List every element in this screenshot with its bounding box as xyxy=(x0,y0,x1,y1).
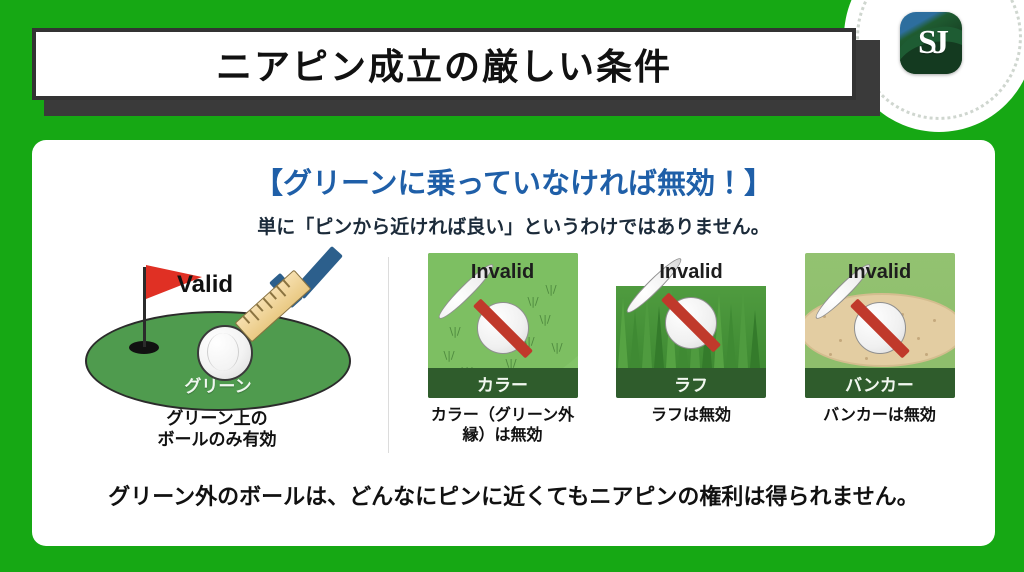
logo-monogram: SJ xyxy=(900,12,962,74)
title-banner-plate: ニアピン成立の厳しい条件 xyxy=(32,28,856,100)
panels-row: グリーン Valid グリーン上の xyxy=(52,253,975,463)
red-x-icon xyxy=(653,285,729,361)
title-banner: ニアピン成立の厳しい条件 xyxy=(32,28,868,108)
app-logo: SJ xyxy=(900,12,962,74)
bunker-caption: バンカーは無効 xyxy=(802,405,957,425)
valid-panel: グリーン Valid グリーン上の xyxy=(52,253,382,452)
rough-thumbnail: Invalid xyxy=(616,253,766,398)
invalid-panel-rough: Invalid xyxy=(616,253,766,425)
ball-with-red-x-icon xyxy=(854,302,906,354)
invalid-panel-collar: \|/ \|/ \|/ \|/ \|/ \|/ \|/ \|/ \|/ Inva… xyxy=(425,253,580,445)
rough-caption: ラフは無効 xyxy=(616,405,766,425)
headline: 【グリーンに乗っていなければ無効！】 xyxy=(52,160,975,202)
collar-thumbnail: \|/ \|/ \|/ \|/ \|/ \|/ \|/ \|/ \|/ Inva… xyxy=(428,253,578,398)
content-card: 【グリーンに乗っていなければ無効！】 単に「ピンから近ければ良い」というわけでは… xyxy=(32,140,995,546)
red-x-icon xyxy=(842,290,918,366)
bunker-band-label: バンカー xyxy=(805,368,955,398)
grass-tuft-icon: \|/ xyxy=(444,349,455,362)
footer-note: グリーン外のボールは、どんなにピンに近くてもニアピンの権利は得られません。 xyxy=(52,479,975,511)
rough-band-label: ラフ xyxy=(616,368,766,398)
collar-status-label: Invalid xyxy=(428,261,578,284)
bunker-status-label: Invalid xyxy=(805,261,955,284)
collar-caption-line2: 縁）は無効 xyxy=(425,425,580,445)
valid-caption-line2: ボールのみ有効 xyxy=(52,430,382,451)
collar-caption-line1: カラー（グリーン外 xyxy=(425,405,580,425)
invalid-panels-group: \|/ \|/ \|/ \|/ \|/ \|/ \|/ \|/ \|/ Inva… xyxy=(407,253,975,445)
invalid-panel-bunker: Invalid xyxy=(802,253,957,425)
grass-tuft-icon: \|/ xyxy=(546,283,557,296)
rough-caption-line1: ラフは無効 xyxy=(616,405,766,425)
page-title: ニアピン成立の厳しい条件 xyxy=(216,38,672,90)
collar-band-label: カラー xyxy=(428,368,578,398)
ball-with-red-x-icon xyxy=(477,302,529,354)
valid-illustration: グリーン Valid xyxy=(67,253,367,403)
panel-divider xyxy=(388,257,389,453)
bunker-caption-line1: バンカーは無効 xyxy=(802,405,957,425)
red-x-icon xyxy=(465,290,541,366)
collar-caption: カラー（グリーン外 縁）は無効 xyxy=(425,405,580,445)
bunker-thumbnail: Invalid xyxy=(805,253,955,398)
subheadline: 単に「ピンから近ければ良い」というわけではありません。 xyxy=(52,212,975,239)
valid-caption: グリーン上の ボールのみ有効 xyxy=(52,409,382,452)
rough-status-label: Invalid xyxy=(616,261,766,284)
ball-with-red-x-icon xyxy=(665,297,717,349)
valid-status-label: Valid xyxy=(177,271,233,299)
grass-tuft-icon: \|/ xyxy=(540,313,551,326)
valid-caption-line1: グリーン上の xyxy=(52,409,382,430)
grass-tuft-icon: \|/ xyxy=(552,341,563,354)
grass-tuft-icon: \|/ xyxy=(450,325,461,338)
